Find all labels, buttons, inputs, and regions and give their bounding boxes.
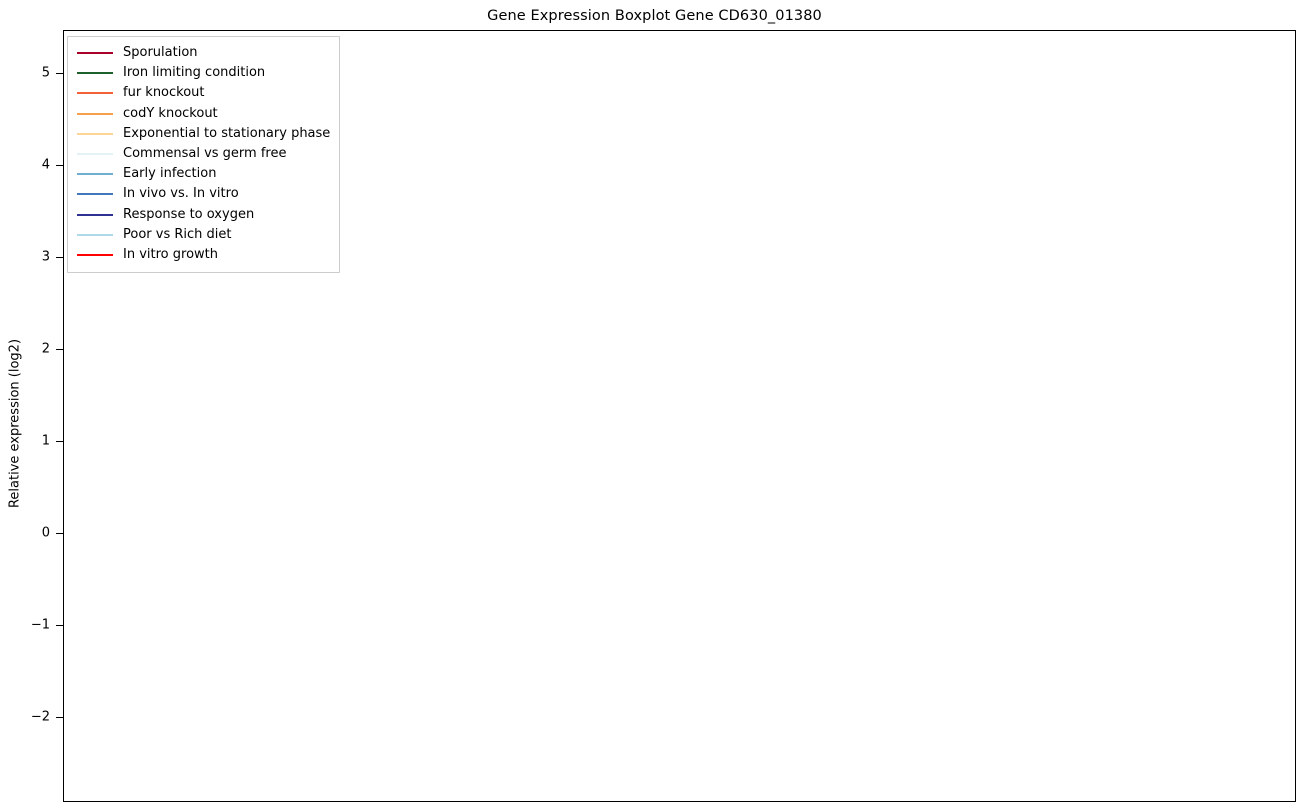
legend-item[interactable]: In vivo vs. In vitro <box>77 184 330 204</box>
y-axis-tick-label: −1 <box>31 618 50 633</box>
legend-item-label: Exponential to stationary phase <box>123 124 330 144</box>
y-axis-tick-mark <box>56 349 63 350</box>
y-axis-tick-mark <box>56 257 63 258</box>
y-axis-tick-mark <box>56 625 63 626</box>
legend-item[interactable]: Early infection <box>77 164 330 184</box>
legend-item[interactable]: codY knockout <box>77 104 330 124</box>
legend-item[interactable]: Iron limiting condition <box>77 63 330 83</box>
y-axis-tick-label: 4 <box>42 158 50 173</box>
y-axis-tick-label: 3 <box>42 250 50 265</box>
y-axis-tick-label: 1 <box>42 434 50 449</box>
legend-item-label: Commensal vs germ free <box>123 144 286 164</box>
legend-color-swatch <box>77 254 113 256</box>
y-axis-tick-mark <box>56 717 63 718</box>
legend-item[interactable]: Poor vs Rich diet <box>77 225 330 245</box>
y-axis-label: Relative expression (log2) <box>8 314 23 534</box>
legend-item-label: Iron limiting condition <box>123 63 265 83</box>
legend-item[interactable]: fur knockout <box>77 83 330 103</box>
y-axis-tick-label: 5 <box>42 66 50 81</box>
y-axis-tick-mark <box>56 73 63 74</box>
y-axis-tick-mark <box>56 165 63 166</box>
legend-item-label: fur knockout <box>123 83 205 103</box>
legend-item-label: Poor vs Rich diet <box>123 225 231 245</box>
legend-color-swatch <box>77 92 113 94</box>
legend-color-swatch <box>77 52 113 54</box>
legend-item-label: In vivo vs. In vitro <box>123 184 239 204</box>
y-axis-tick-label: 0 <box>42 526 50 541</box>
y-axis-tick-mark <box>56 441 63 442</box>
legend-item[interactable]: Commensal vs germ free <box>77 144 330 164</box>
legend-color-swatch <box>77 133 113 135</box>
legend-item-label: Early infection <box>123 164 216 184</box>
legend-item-label: Sporulation <box>123 43 198 63</box>
legend-item[interactable]: Sporulation <box>77 43 330 63</box>
y-axis-tick-label: 2 <box>42 342 50 357</box>
legend-color-swatch <box>77 234 113 236</box>
legend-item-label: In vitro growth <box>123 245 218 265</box>
legend-item[interactable]: Response to oxygen <box>77 205 330 225</box>
boxplot-figure: Gene Expression Boxplot Gene CD630_01380… <box>0 0 1309 812</box>
legend-item[interactable]: In vitro growth <box>77 245 330 265</box>
legend-item[interactable]: Exponential to stationary phase <box>77 124 330 144</box>
legend-item-label: Response to oxygen <box>123 205 254 225</box>
legend: SporulationIron limiting conditionfur kn… <box>67 36 340 273</box>
legend-color-swatch <box>77 153 113 155</box>
y-axis-tick-mark <box>56 533 63 534</box>
legend-color-swatch <box>77 113 113 115</box>
legend-item-label: codY knockout <box>123 104 218 124</box>
legend-color-swatch <box>77 193 113 195</box>
legend-color-swatch <box>77 72 113 74</box>
y-axis-tick-label: −2 <box>31 710 50 725</box>
legend-color-swatch <box>77 214 113 216</box>
legend-color-swatch <box>77 173 113 175</box>
chart-title: Gene Expression Boxplot Gene CD630_01380 <box>0 8 1309 24</box>
